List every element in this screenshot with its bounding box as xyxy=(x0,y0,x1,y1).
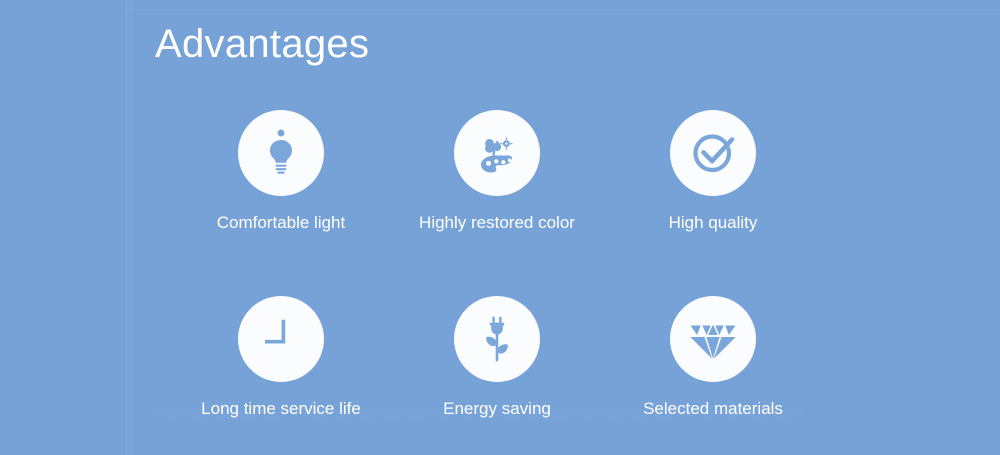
feature-badge xyxy=(454,110,540,196)
feature-badge xyxy=(238,110,324,196)
feature-label: High quality xyxy=(669,212,758,234)
feature-label: Comfortable light xyxy=(217,212,346,234)
eco-plug-icon xyxy=(471,313,523,365)
feature-item-high-quality[interactable]: High quality xyxy=(605,110,821,234)
diamond-icon xyxy=(687,313,739,365)
feature-item-energy-saving[interactable]: Energy saving xyxy=(389,296,605,420)
feature-badge xyxy=(670,110,756,196)
feature-badge xyxy=(238,296,324,382)
page-title: Advantages xyxy=(155,20,369,68)
clock-icon xyxy=(255,313,307,365)
feature-badge xyxy=(670,296,756,382)
panel-left-edge xyxy=(126,0,127,455)
faint-footer-strip: ░░░░░░░░░░░░░░░░░░░░░░░░░░░░░░░░░░░░░░░░… xyxy=(150,409,850,422)
feature-item-selected-materials[interactable]: Selected materials xyxy=(605,296,821,420)
feature-item-comfortable-light[interactable]: Comfortable light xyxy=(173,110,389,234)
feature-item-highly-restored-color[interactable]: Highly restored color xyxy=(389,110,605,234)
advantages-row-top: Comfortable light xyxy=(173,110,821,234)
advantages-banner: Advantages xyxy=(0,0,1000,455)
advantages-row-bottom: Long time service life xyxy=(173,296,821,420)
feature-badge xyxy=(454,296,540,382)
feature-label: Highly restored color xyxy=(419,212,575,234)
palette-icon xyxy=(471,127,523,179)
panel-top-edge xyxy=(126,10,1000,11)
check-circle-icon xyxy=(687,127,739,179)
feature-item-long-time-service-life[interactable]: Long time service life xyxy=(173,296,389,420)
lightbulb-icon xyxy=(255,127,307,179)
panel-left-edge-secondary xyxy=(130,0,131,455)
advantages-grid: Comfortable light xyxy=(173,110,821,420)
